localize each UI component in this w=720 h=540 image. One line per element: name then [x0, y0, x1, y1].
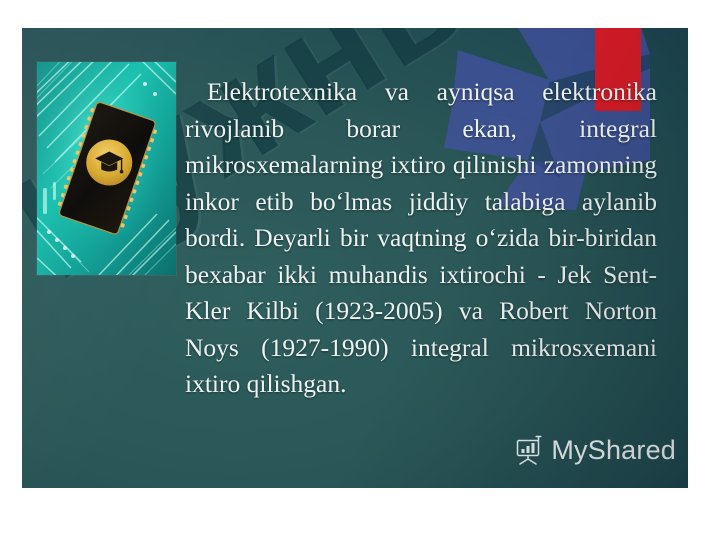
myshared-logo-label: MyShared	[551, 437, 676, 464]
myshared-logo[interactable]: MyShared	[514, 434, 676, 466]
presentation-chart-easel-icon	[514, 434, 544, 466]
slide-body-text: Elektrotexnika va ayniqsa elektronika ri…	[185, 74, 657, 403]
screenshot-canvas: Нужны	[0, 0, 720, 540]
microchip-photo-thumbnail	[37, 62, 176, 275]
presentation-slide: Нужны	[22, 28, 688, 488]
microchip-circuit-board-illustration	[37, 62, 176, 275]
